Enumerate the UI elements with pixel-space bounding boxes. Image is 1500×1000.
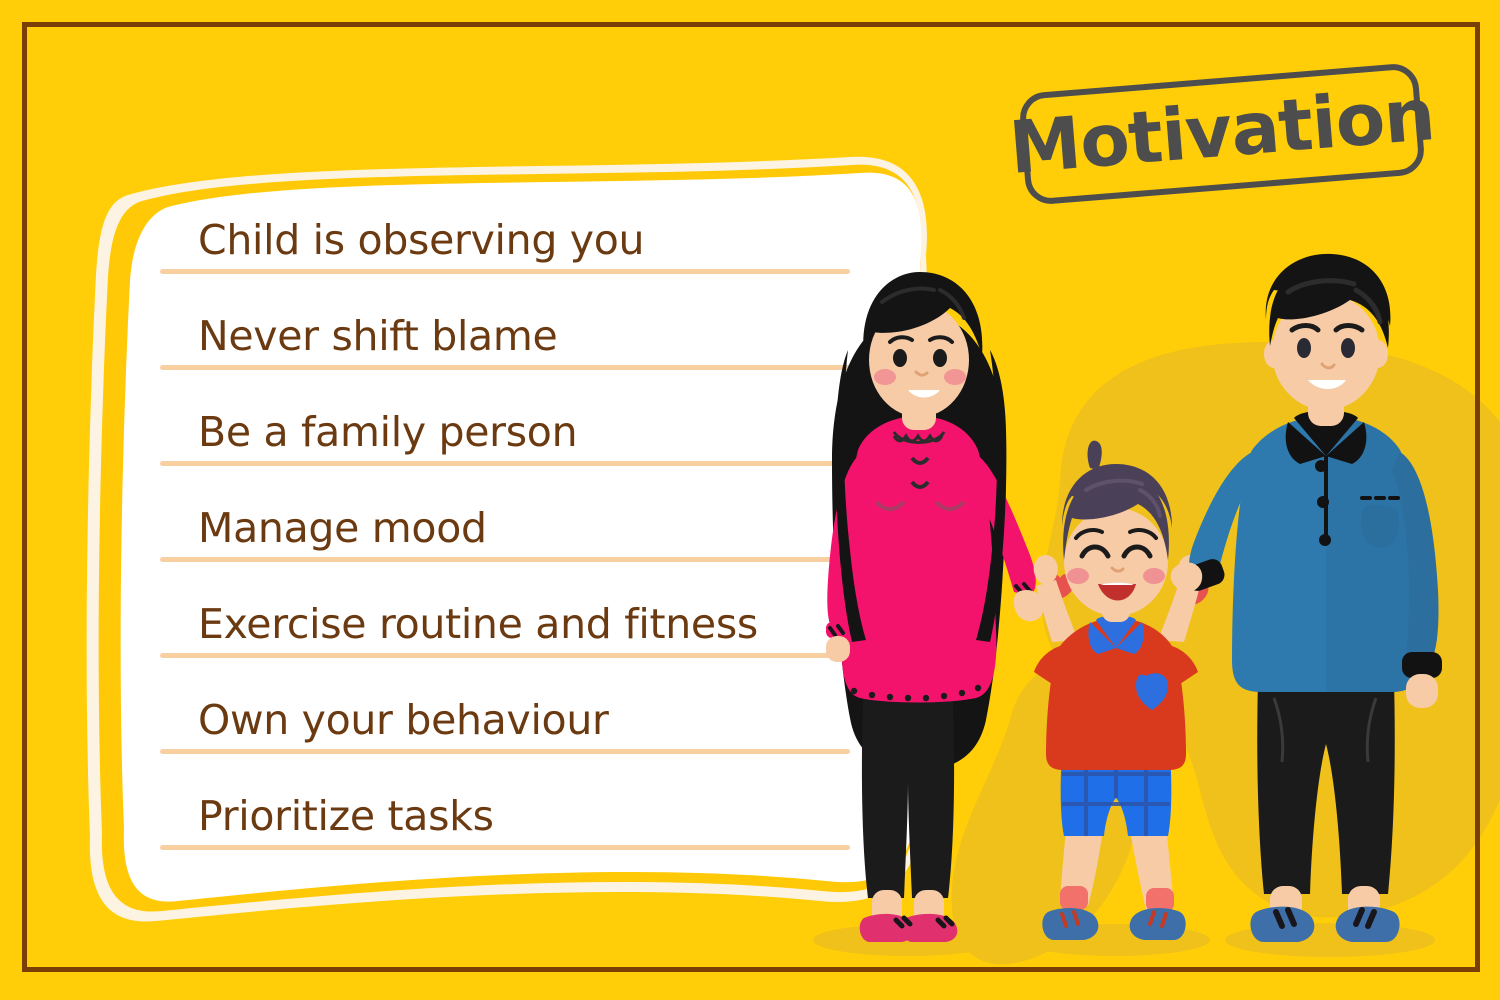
- motivation-badge: Motivation: [1018, 62, 1426, 206]
- child-shoe-right: [1130, 908, 1186, 940]
- list-item-label: Manage mood: [198, 504, 487, 552]
- list-item-rule: [160, 365, 850, 370]
- list-item-label: Never shift blame: [198, 312, 557, 360]
- father-eye-left: [1297, 338, 1311, 358]
- figure-child: [1034, 441, 1209, 940]
- mother-dress: [842, 416, 997, 703]
- list-item-rule: [160, 461, 850, 466]
- list-item-rule: [160, 557, 850, 562]
- list-item-rule: [160, 653, 850, 658]
- poster-canvas: Child is observing you Never shift blame…: [0, 0, 1500, 1000]
- page-title: Motivation: [1018, 62, 1426, 206]
- list-item-label: Child is observing you: [198, 216, 644, 264]
- list-item-label: Be a family person: [198, 408, 577, 456]
- father-eye-right: [1341, 338, 1355, 358]
- mother-eye-left: [893, 349, 907, 367]
- figure-mother: [826, 272, 1044, 942]
- list-item-rule: [160, 269, 850, 274]
- mother-hand-left: [826, 636, 850, 662]
- list-item-label: Prioritize tasks: [198, 792, 494, 840]
- list-item-label: Own your behaviour: [198, 696, 609, 744]
- list-item-label: Exercise routine and fitness: [198, 600, 758, 648]
- list-item-rule: [160, 749, 850, 754]
- list-item-rule: [160, 845, 850, 850]
- child-shoe-left: [1042, 908, 1098, 940]
- family-illustration: [790, 250, 1500, 970]
- mother-eye-right: [933, 349, 947, 367]
- figure-father: [1171, 254, 1442, 942]
